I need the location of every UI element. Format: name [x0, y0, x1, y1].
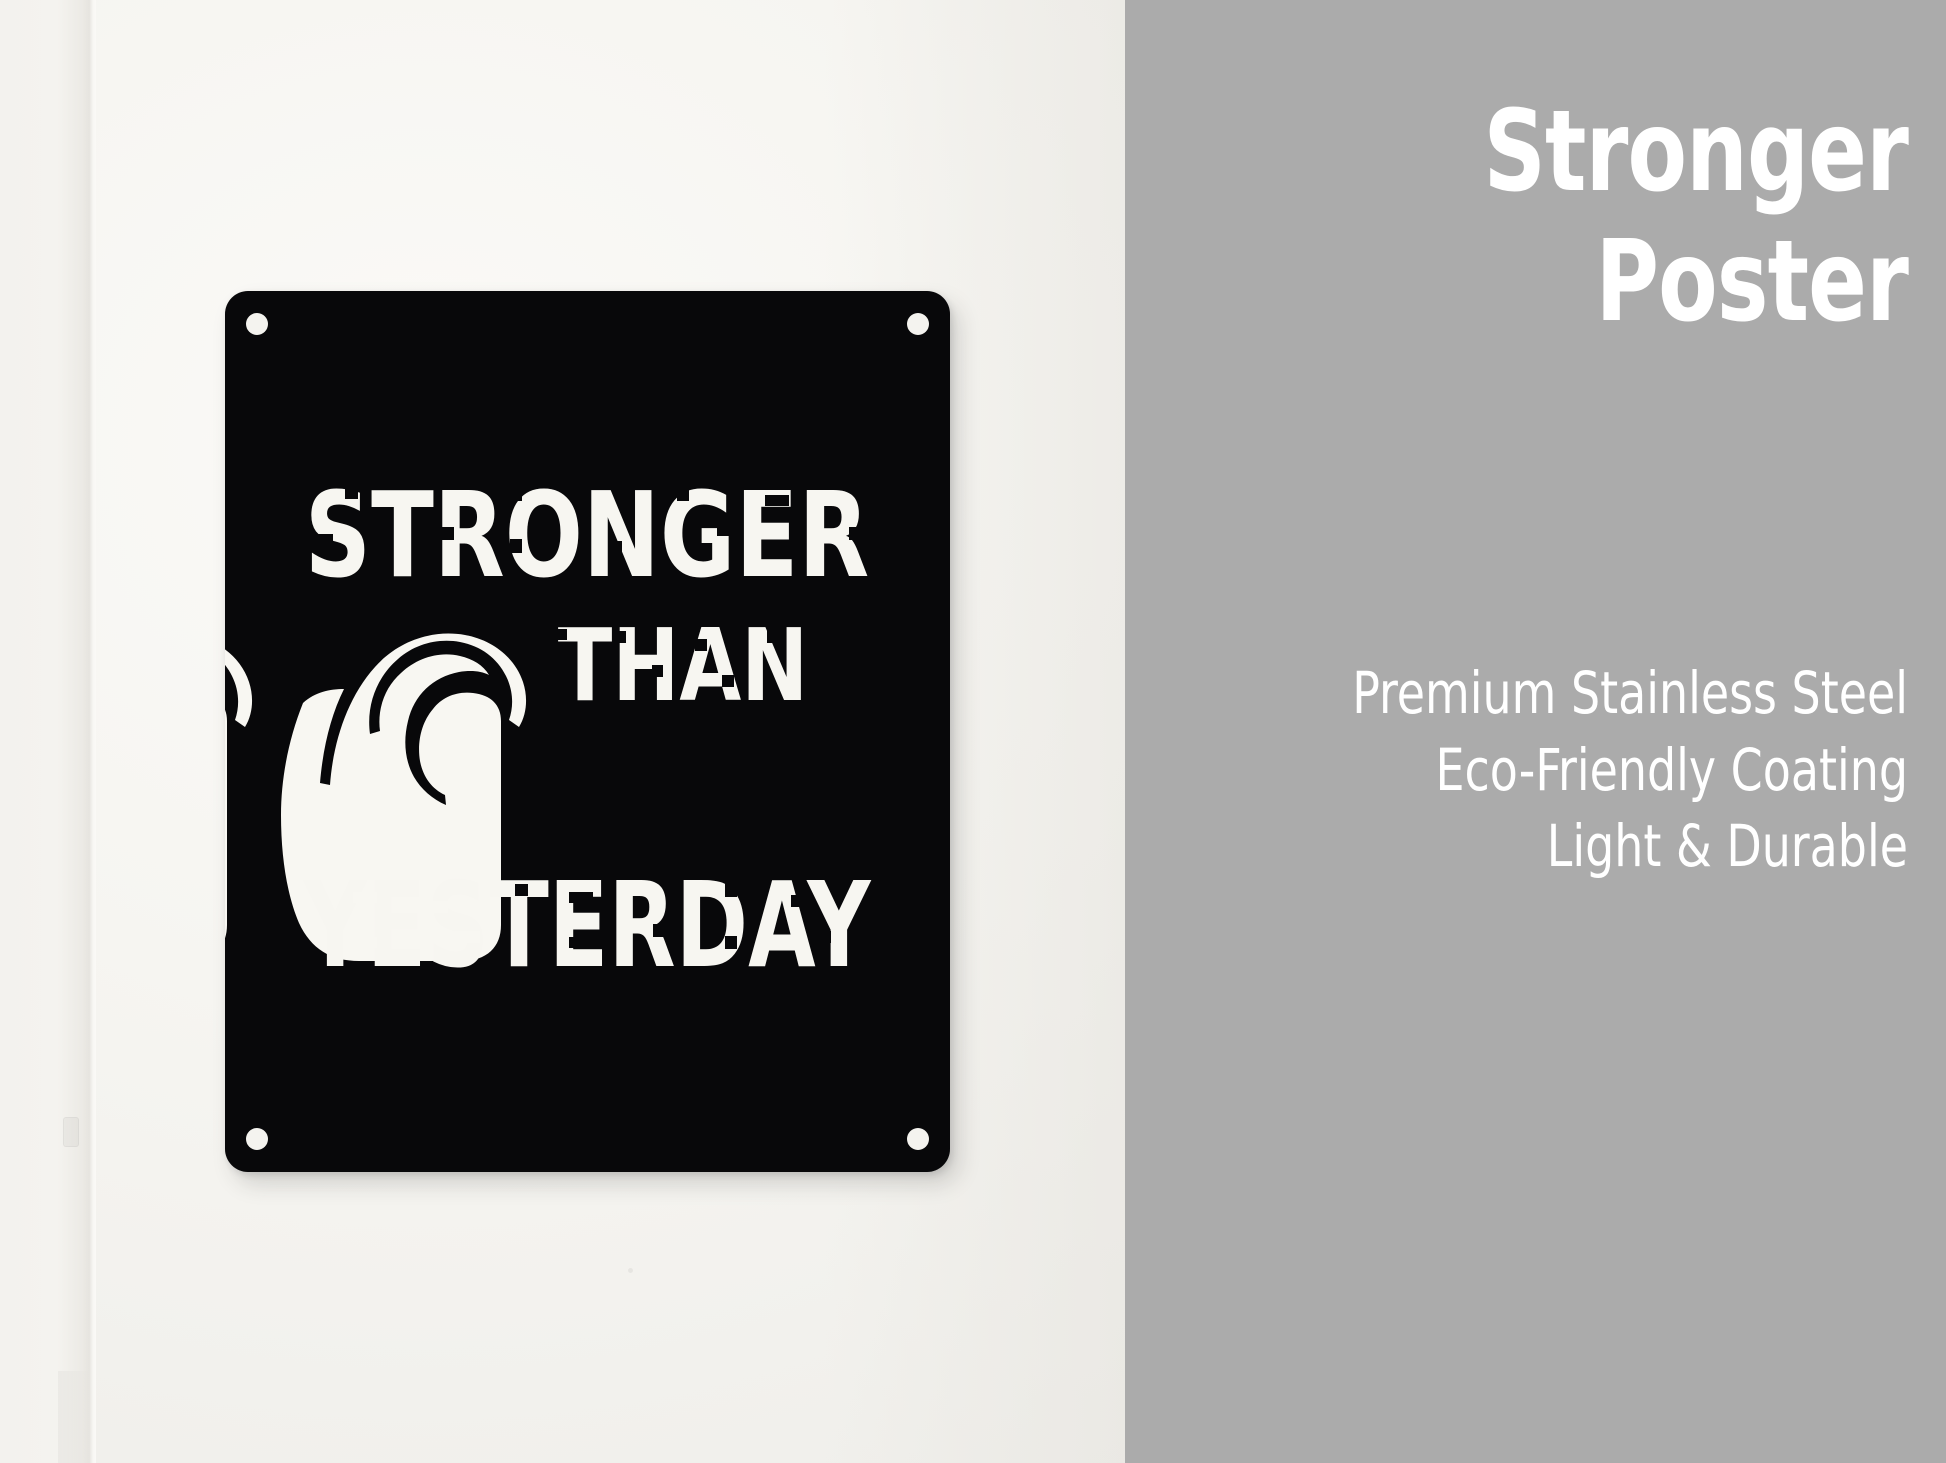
- svg-text:THAN: THAN: [558, 608, 808, 724]
- feature-item: Eco-Friendly Coating: [1292, 732, 1908, 809]
- product-listing-image: STRONGER THAN: [0, 0, 1946, 1463]
- feature-item: Light & Durable: [1292, 808, 1908, 885]
- wall-speck: [628, 1268, 633, 1273]
- feature-item: Premium Stainless Steel: [1292, 655, 1908, 732]
- sign-line-3: YESTERDAY: [302, 858, 872, 994]
- black-metal-sign-plate: STRONGER THAN: [225, 291, 950, 1172]
- flexed-bicep-right-icon: [225, 634, 252, 961]
- wall-skirting-shadow: [58, 1371, 104, 1463]
- sign-artwork: STRONGER THAN: [225, 291, 950, 1172]
- product-photo-pane: STRONGER THAN: [0, 0, 1125, 1463]
- svg-text:STRONGER: STRONGER: [305, 467, 869, 604]
- product-feature-list: Premium Stainless Steel Eco-Friendly Coa…: [1292, 655, 1908, 885]
- product-title: Stronger Poster: [1306, 88, 1908, 348]
- product-info-panel: Stronger Poster Premium Stainless Steel …: [1125, 0, 1946, 1463]
- sign-line-2: THAN: [558, 608, 808, 724]
- wall-corner-edge: [0, 0, 96, 1463]
- wall-fixture-nub: [63, 1117, 79, 1147]
- sign-line-1: STRONGER: [305, 467, 869, 604]
- svg-text:YESTERDAY: YESTERDAY: [302, 858, 872, 994]
